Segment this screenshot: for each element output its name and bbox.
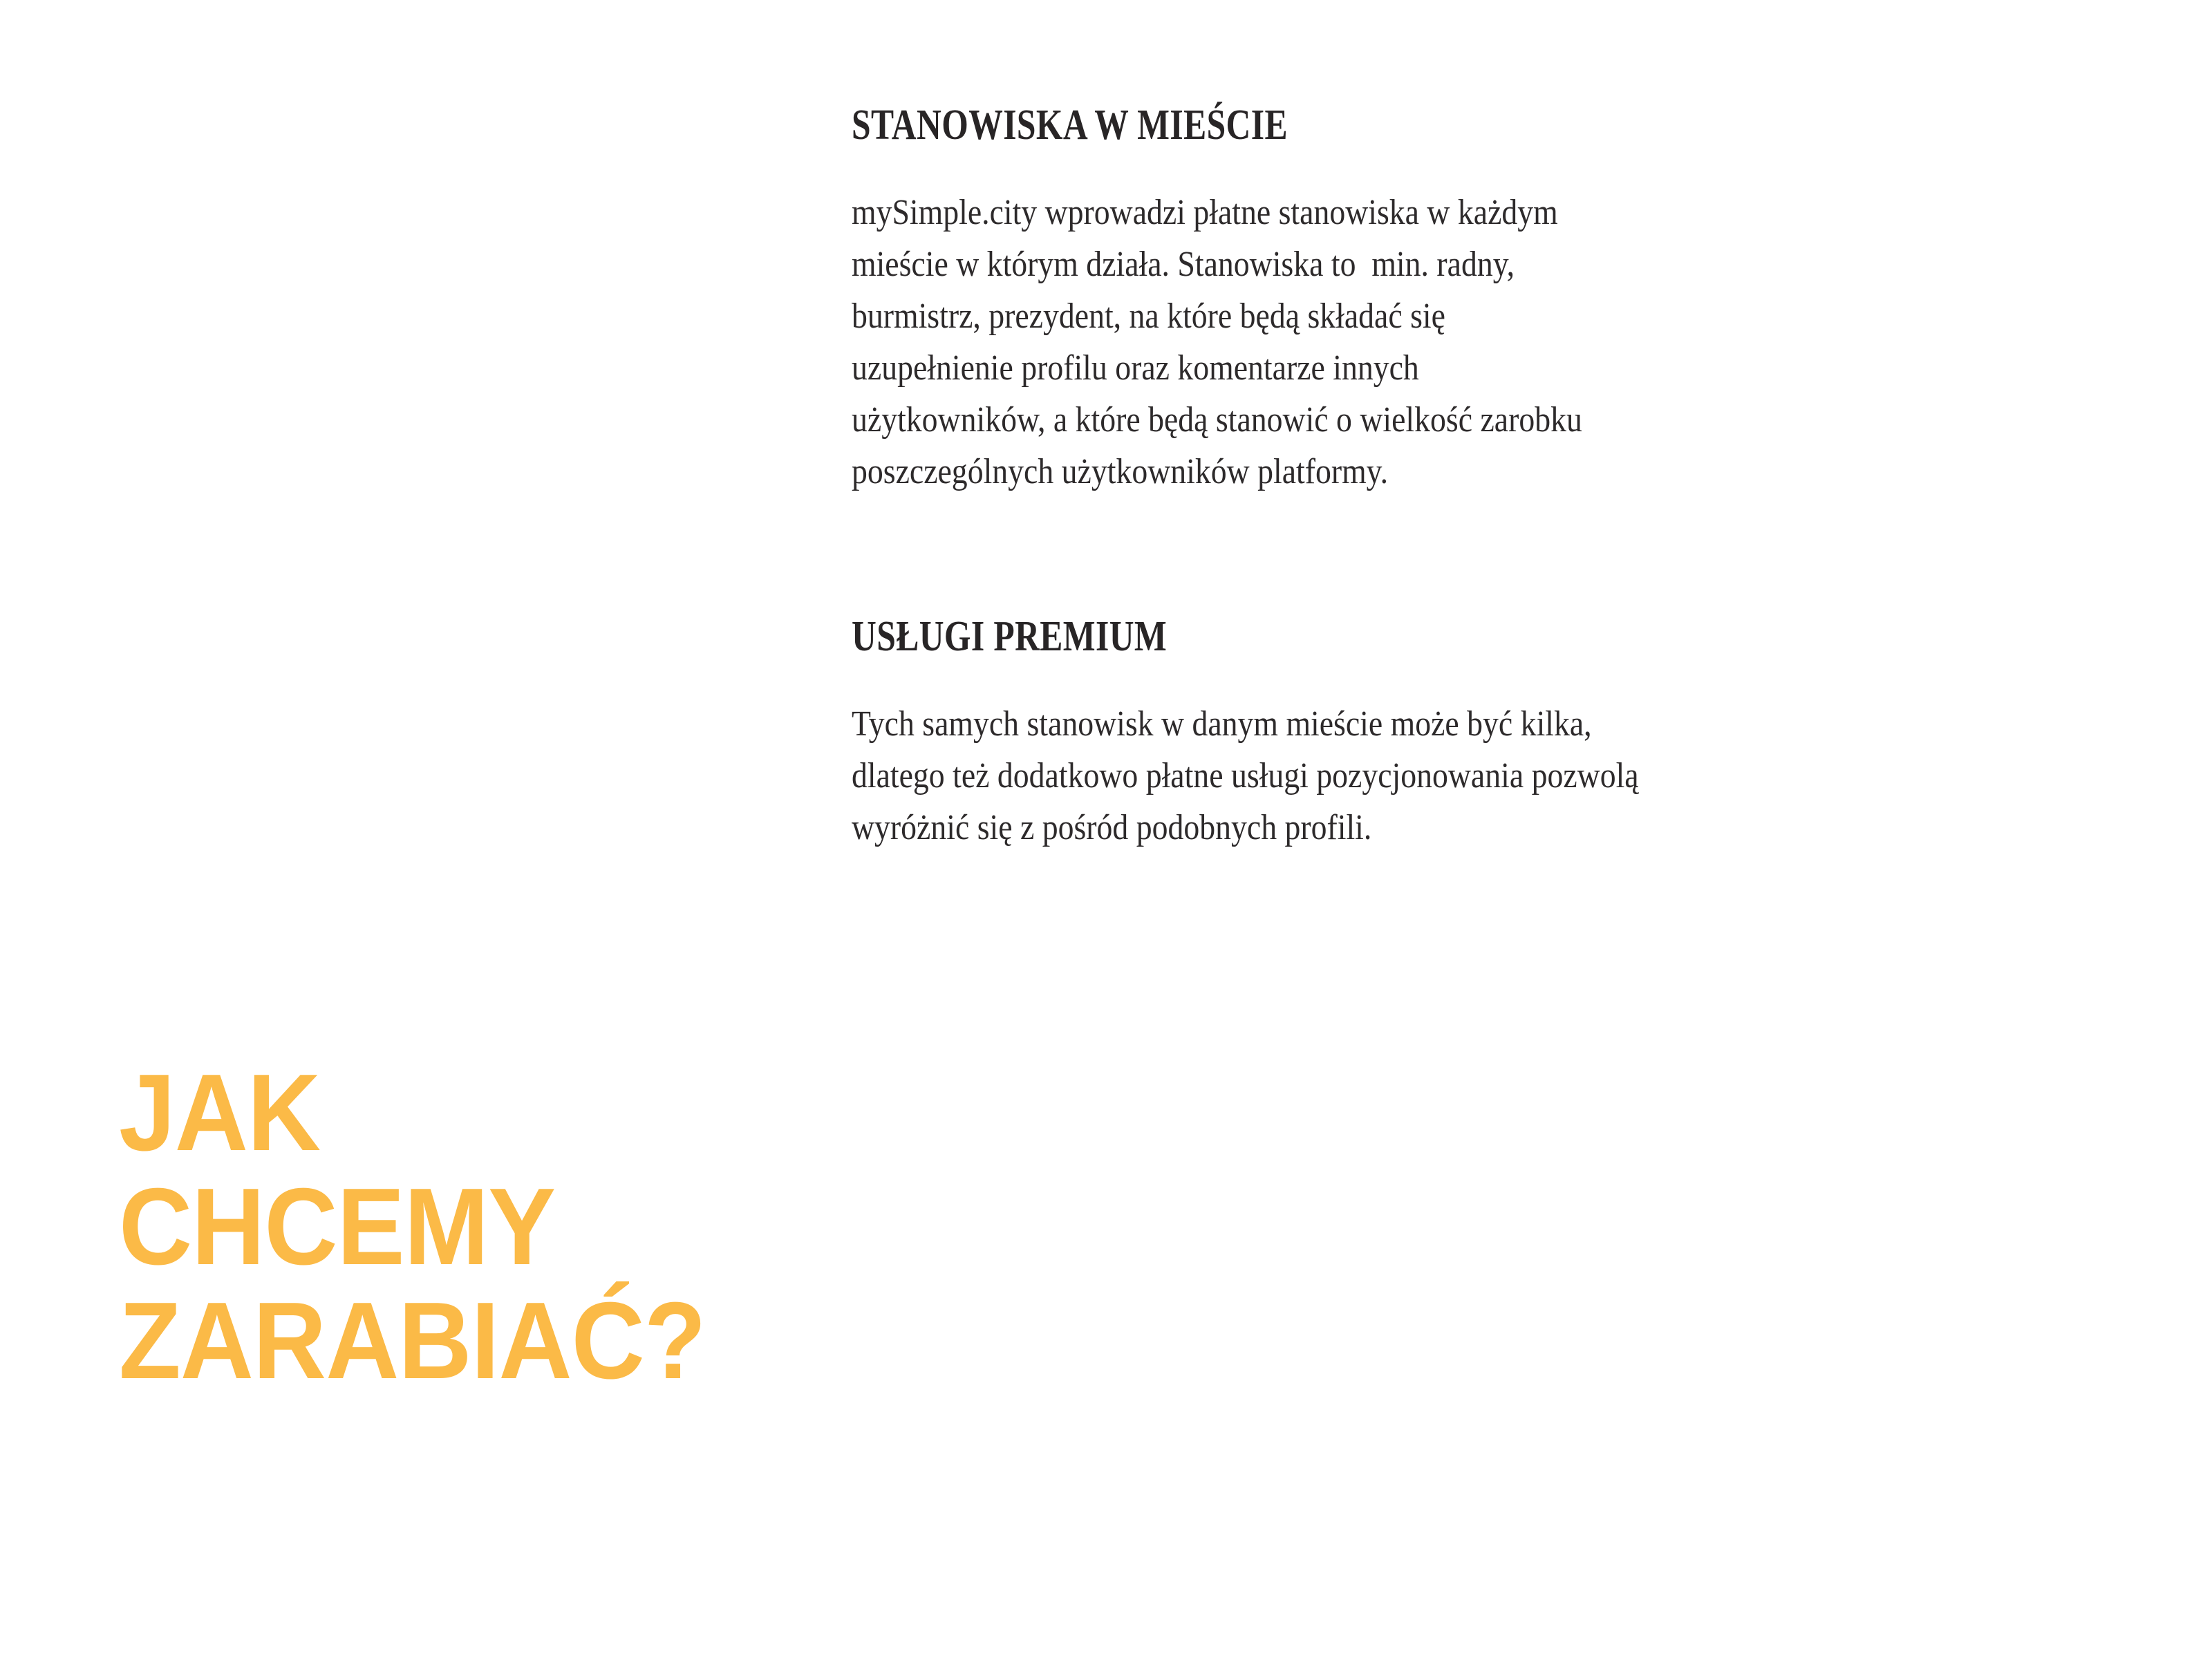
body-line: dlatego też dodatkowo płatne usługi pozy… [852, 750, 2068, 802]
body-line: Tych samych stanowisk w danym mieście mo… [852, 698, 2068, 750]
body-line: mySimple.city wprowadzi płatne stanowisk… [852, 187, 2068, 238]
body-line: wyróżnić się z pośród podobnych profili. [852, 802, 2068, 854]
content-column: STANOWISKA W MIEŚCIE mySimple.city wprow… [852, 104, 2068, 854]
section-heading-stanowiska: STANOWISKA W MIEŚCIE [852, 104, 1825, 147]
body-line: burmistrz, prezydent, na które będą skła… [852, 290, 2068, 342]
display-headline-line-3: ZARABIAĆ? [119, 1284, 706, 1398]
section-body-uslugi-premium: Tych samych stanowisk w danym mieście mo… [852, 698, 2068, 854]
display-headline: JAK CHCEMY ZARABIAĆ? [119, 1056, 706, 1398]
section-body-stanowiska: mySimple.city wprowadzi płatne stanowisk… [852, 187, 2068, 498]
section-stanowiska-w-miescie: STANOWISKA W MIEŚCIE mySimple.city wprow… [852, 104, 2068, 498]
display-headline-line-2: CHCEMY [119, 1170, 706, 1284]
section-heading-uslugi-premium: USŁUGI PREMIUM [852, 615, 1825, 658]
section-uslugi-premium: USŁUGI PREMIUM Tych samych stanowisk w d… [852, 615, 2068, 854]
body-line: użytkowników, a które będą stanowić o wi… [852, 394, 2068, 446]
body-line: mieście w którym działa. Stanowiska to m… [852, 238, 2068, 290]
display-headline-line-1: JAK [119, 1056, 706, 1170]
slide-canvas: STANOWISKA W MIEŚCIE mySimple.city wprow… [0, 0, 2212, 1656]
body-line: poszczególnych użytkowników platformy. [852, 446, 2068, 498]
body-line: uzupełnienie profilu oraz komentarze inn… [852, 342, 2068, 394]
